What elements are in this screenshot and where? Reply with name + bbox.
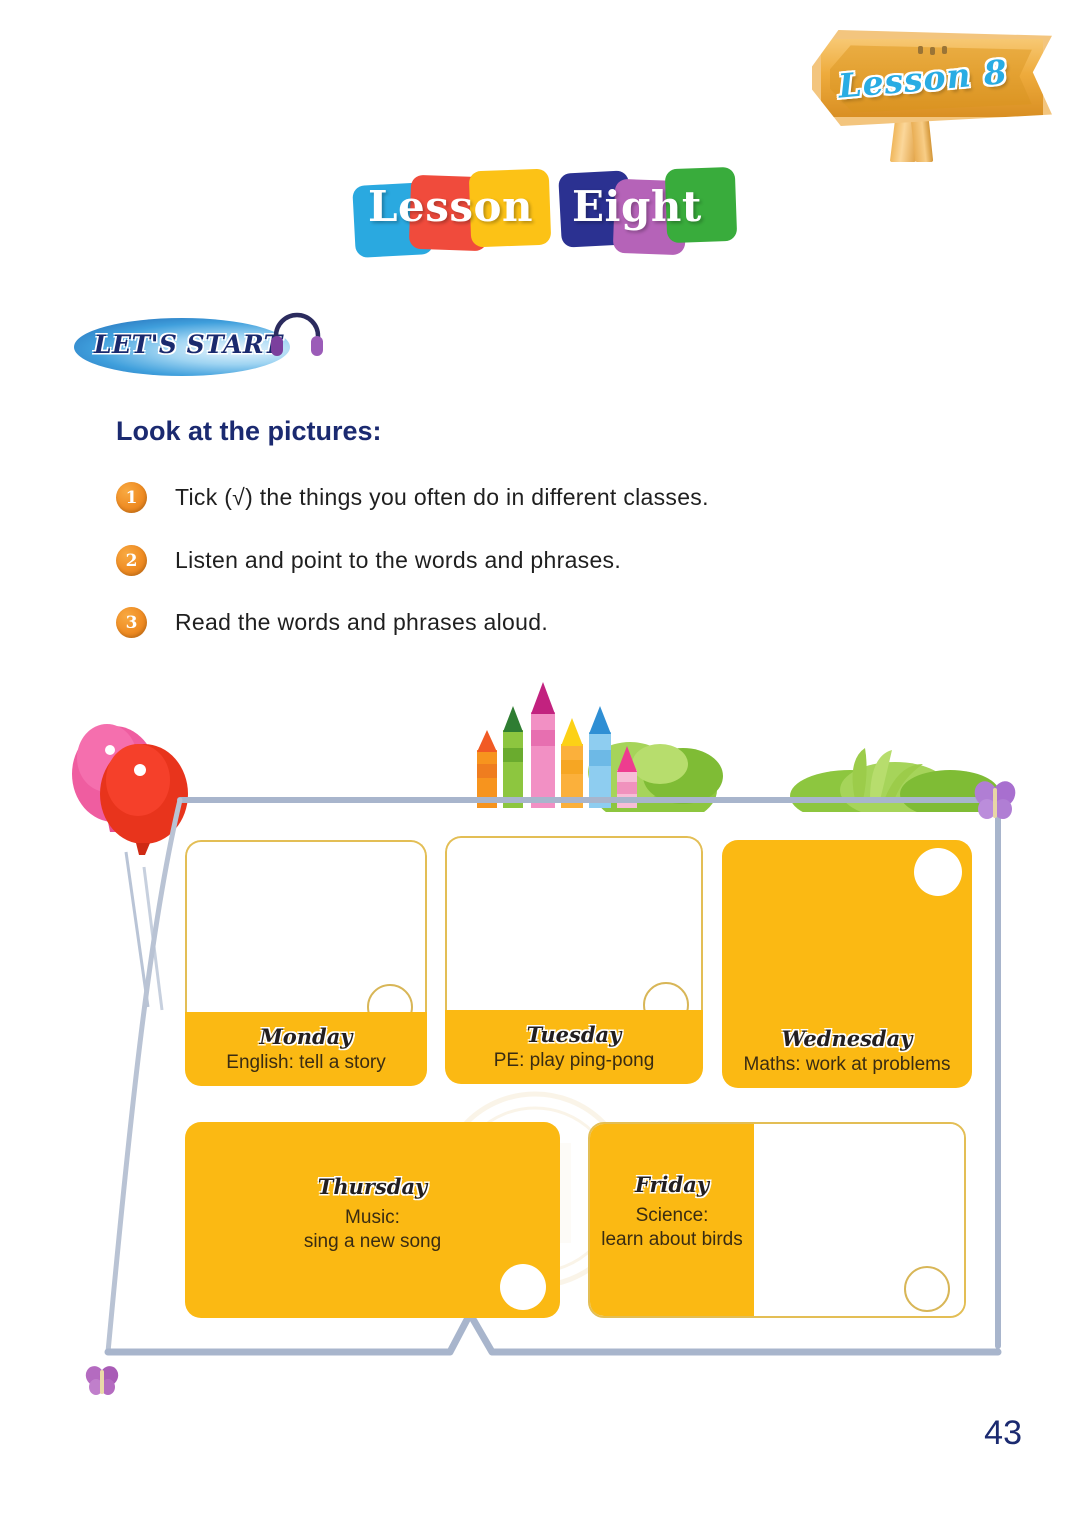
friday-subject-line1: Science: xyxy=(590,1205,754,1227)
lesson-title: Lesson Eight xyxy=(352,166,742,264)
right-edge-butterfly-icon xyxy=(972,778,1018,824)
tuesday-picture-area[interactable] xyxy=(445,836,703,1010)
tuesday-label-footer: Tuesday PE: play ping-pong xyxy=(445,1010,703,1084)
sign-nails-icon xyxy=(918,46,948,56)
instruction-text-3: Read the words and phrases aloud. xyxy=(175,609,548,636)
instruction-text-1: Tick (√) the things you often do in diff… xyxy=(175,484,709,511)
instruction-number-3: 3 xyxy=(116,607,147,638)
textbook-page: Lesson 8 Lesson Eight LET'S START Look a… xyxy=(0,0,1080,1518)
instruction-row-1: 1 Tick (√) the things you often do in di… xyxy=(116,482,709,513)
page-number: 43 xyxy=(984,1414,1022,1453)
monday-label-footer: Monday English: tell a story xyxy=(185,1012,427,1086)
wednesday-subject-label: Maths: work at problems xyxy=(722,1054,972,1076)
friday-tick-circle[interactable] xyxy=(904,1266,950,1312)
tuesday-day-label: Tuesday xyxy=(527,1022,622,1047)
lesson-title-word2: Eight xyxy=(572,182,702,231)
wooden-signpost: Lesson 8 xyxy=(808,22,1058,162)
friday-subject-line2: learn about birds xyxy=(590,1229,754,1251)
day-card-tuesday[interactable]: Tuesday PE: play ping-pong xyxy=(445,836,703,1084)
instruction-number-1: 1 xyxy=(116,482,147,513)
instruction-text-2: Listen and point to the words and phrase… xyxy=(175,547,621,574)
thursday-tick-circle[interactable] xyxy=(500,1264,546,1310)
instruction-number-2: 2 xyxy=(116,545,147,576)
lets-start-banner: LET'S START xyxy=(74,306,334,384)
headphones-icon xyxy=(270,310,324,358)
wednesday-day-label: Wednesday xyxy=(722,1026,972,1051)
instruction-row-3: 3 Read the words and phrases aloud. xyxy=(116,607,548,638)
monday-day-label: Monday xyxy=(259,1024,352,1049)
bottom-left-butterfly-icon xyxy=(84,1364,120,1396)
thursday-day-label: Thursday xyxy=(185,1174,560,1199)
page-title: Look at the pictures: xyxy=(116,416,382,447)
monday-subject-label: English: tell a story xyxy=(226,1052,385,1074)
monday-picture-area[interactable] xyxy=(185,840,427,1012)
thursday-subject-line2: sing a new song xyxy=(185,1231,560,1253)
friday-label-block: Friday Science: learn about birds xyxy=(590,1124,754,1316)
day-card-thursday[interactable]: Thursday Music: sing a new song xyxy=(185,1122,560,1318)
day-card-wednesday[interactable]: Wednesday Maths: work at problems xyxy=(722,840,972,1088)
day-card-monday[interactable]: Monday English: tell a story xyxy=(185,840,427,1086)
lets-start-label: LET'S START xyxy=(94,330,283,359)
tuesday-subject-label: PE: play ping-pong xyxy=(494,1050,655,1072)
thursday-subject-line1: Music: xyxy=(185,1207,560,1229)
friday-day-label: Friday xyxy=(590,1172,754,1197)
instruction-row-2: 2 Listen and point to the words and phra… xyxy=(116,545,621,576)
wednesday-tick-circle[interactable] xyxy=(914,848,962,896)
day-card-friday[interactable]: Friday Science: learn about birds xyxy=(588,1122,966,1318)
lesson-title-word1: Lesson xyxy=(368,182,533,231)
